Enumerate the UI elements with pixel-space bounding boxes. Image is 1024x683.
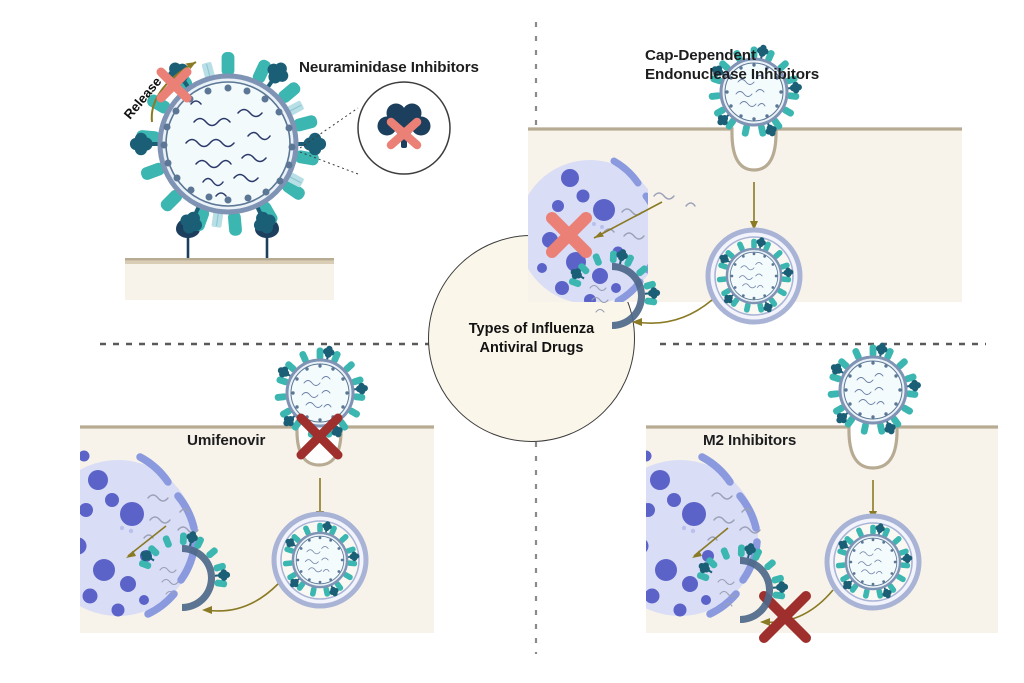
virion-at-membrane bbox=[827, 342, 921, 437]
sialic-acid-receptors bbox=[188, 228, 267, 258]
endosome-vesicle-icon bbox=[708, 230, 800, 322]
neuraminidase-scene: Release bbox=[0, 0, 528, 338]
diagram-canvas: Types of Influenza Antiviral Drugs Neura… bbox=[0, 0, 1024, 683]
quadrant-title-umifenovir: Umifenovir bbox=[187, 431, 265, 450]
quadrant-cap-endonuclease: Cap-Dependent Endonuclease Inhibitors bbox=[528, 0, 1024, 338]
quadrant-title-neuraminidase: Neuraminidase Inhibitors bbox=[299, 58, 479, 77]
host-cell-surface bbox=[125, 258, 334, 300]
quadrant-umifenovir: Umifenovir bbox=[0, 338, 528, 683]
endosome-vesicle-icon bbox=[274, 514, 366, 606]
quadrant-neuraminidase: Neuraminidase Inhibitors bbox=[0, 0, 528, 338]
quadrant-m2-inhibitors: M2 Inhibitors bbox=[528, 338, 1024, 683]
quadrant-title-cap-endonuclease: Cap-Dependent Endonuclease Inhibitors bbox=[645, 46, 819, 85]
quadrant-title-m2-inhibitors: M2 Inhibitors bbox=[703, 431, 796, 450]
neuraminidase-inset bbox=[358, 82, 450, 174]
virion-at-membrane bbox=[274, 345, 368, 440]
m2-inhibitors-scene bbox=[528, 338, 1024, 683]
umifenovir-scene bbox=[0, 338, 528, 683]
endosome-vesicle-icon bbox=[827, 516, 919, 608]
